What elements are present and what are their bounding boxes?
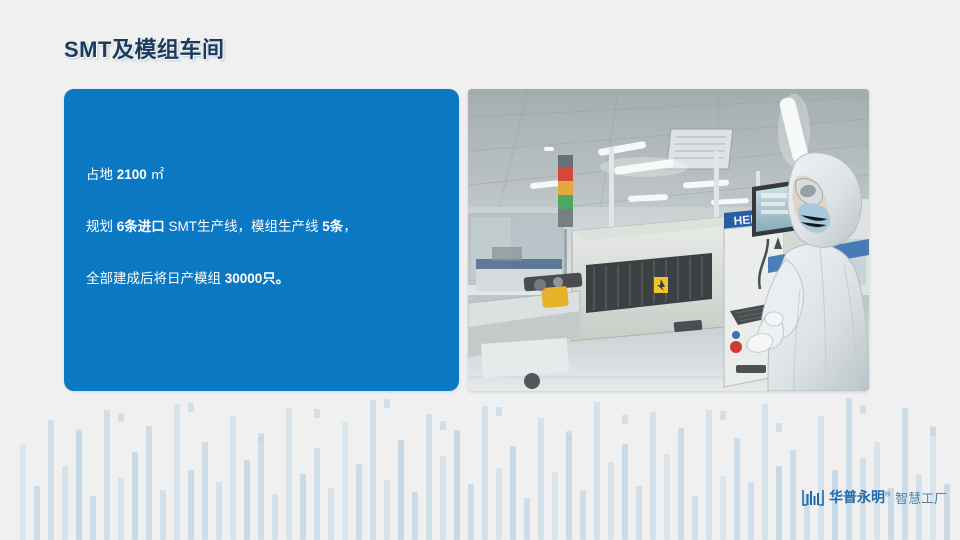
decorative-bar <box>314 448 320 540</box>
decorative-bar-tick <box>118 413 124 422</box>
decorative-bar <box>258 436 264 540</box>
decorative-bar <box>300 474 306 540</box>
info-card-text-block: 占地 2100 ㎡ 规划 6条进口 SMT生产线，模组生产线 5条， 全部建成后… <box>86 167 443 288</box>
decorative-bar <box>20 444 26 540</box>
decorative-bar <box>552 472 558 540</box>
decorative-bar <box>468 484 474 540</box>
decorative-bar <box>356 464 362 540</box>
decorative-bar <box>34 486 40 540</box>
decorative-bar <box>538 418 544 540</box>
decorative-bar-tick <box>720 411 726 420</box>
decorative-bar <box>734 438 740 540</box>
decorative-bar <box>930 426 936 540</box>
decorative-bar <box>398 440 404 540</box>
decorative-bar <box>720 476 726 540</box>
info-line-lines-plan: 规划 6条进口 SMT生产线，模组生产线 5条， <box>86 219 443 236</box>
decorative-bar <box>636 486 642 540</box>
decorative-bar <box>902 408 908 540</box>
decorative-bar <box>762 404 768 540</box>
decorative-bar-tick <box>860 405 866 414</box>
company-logo: 华普永明® 智慧工厂 <box>802 487 947 507</box>
decorative-bar <box>566 434 572 540</box>
logo-registered-mark: ® <box>885 491 890 498</box>
decorative-bar-tick <box>258 433 264 442</box>
decorative-bar <box>496 468 502 540</box>
slide-canvas: SMT及模组车间 占地 2100 ㎡ 规划 6条进口 SMT生产线，模组生产线 … <box>0 0 960 540</box>
decorative-bar <box>678 428 684 540</box>
decorative-bar <box>412 492 418 540</box>
decorative-bar <box>328 488 334 540</box>
decorative-bar <box>48 420 54 540</box>
decorative-bar-tick <box>384 399 390 408</box>
decorative-bar <box>244 460 250 540</box>
info-line-lines-plan-seg-3: 5条 <box>322 219 343 234</box>
decorative-bar <box>342 422 348 540</box>
logo-mark-icon <box>802 489 824 506</box>
info-line-lines-plan-seg-1: 6条进口 <box>117 219 165 234</box>
decorative-bar <box>482 406 488 540</box>
decorative-bar-tick <box>566 431 572 440</box>
decorative-bar <box>580 490 586 540</box>
decorative-bar-tick <box>776 423 782 432</box>
logo-sub-label: 智慧工厂 <box>895 488 947 507</box>
info-line-capacity-seg-0: 全部建成后将日产模组 <box>86 271 225 286</box>
decorative-bar <box>622 444 628 540</box>
decorative-bar <box>202 442 208 540</box>
decorative-bar <box>706 410 712 540</box>
logo-brand-text: 华普永明® <box>829 487 890 507</box>
decorative-bar <box>104 410 110 540</box>
decorative-bar-tick <box>930 427 936 436</box>
info-line-lines-plan-seg-2: SMT生产线，模组生产线 <box>165 219 323 234</box>
workshop-photo: HELLER <box>468 89 869 391</box>
decorative-bar <box>62 466 68 540</box>
decorative-bar <box>160 490 166 540</box>
decorative-bar <box>370 400 376 540</box>
decorative-bar-field <box>0 392 960 540</box>
decorative-bar-tick <box>76 429 82 438</box>
decorative-bar <box>426 414 432 540</box>
decorative-bar <box>846 398 852 540</box>
decorative-bar <box>384 480 390 540</box>
decorative-bar <box>146 426 152 540</box>
info-line-area-seg-2: ㎡ <box>147 167 164 182</box>
decorative-bar <box>594 402 600 540</box>
decorative-bar <box>524 498 530 540</box>
decorative-bar <box>216 482 222 540</box>
info-line-area-seg-0: 占地 <box>86 167 117 182</box>
decorative-bar <box>132 452 138 540</box>
info-line-area: 占地 2100 ㎡ <box>86 167 443 184</box>
decorative-bar <box>692 496 698 540</box>
decorative-bar <box>510 446 516 540</box>
decorative-bar-tick <box>440 421 446 430</box>
info-line-capacity: 全部建成后将日产模组 30000只。 <box>86 271 443 288</box>
decorative-bar <box>818 416 824 540</box>
decorative-bar-tick <box>188 403 194 412</box>
decorative-bar <box>90 496 96 540</box>
decorative-bar <box>916 474 922 540</box>
info-line-capacity-seg-1: 30000只。 <box>225 271 290 286</box>
decorative-bar <box>650 412 656 540</box>
decorative-bar <box>272 494 278 540</box>
decorative-bar <box>440 456 446 540</box>
page-title: SMT及模组车间 <box>64 32 224 64</box>
decorative-bar <box>230 416 236 540</box>
decorative-bar <box>286 408 292 540</box>
decorative-bar <box>454 430 460 540</box>
logo-brand-label: 华普永明 <box>829 489 885 505</box>
decorative-bar <box>76 432 82 540</box>
decorative-bar <box>608 462 614 540</box>
decorative-bar <box>118 478 124 540</box>
info-card: 占地 2100 ㎡ 规划 6条进口 SMT生产线，模组生产线 5条， 全部建成后… <box>64 89 459 391</box>
decorative-bar <box>188 470 194 540</box>
decorative-bar-tick <box>622 415 628 424</box>
decorative-bar <box>790 450 796 540</box>
decorative-bar-tick <box>314 409 320 418</box>
decorative-bar <box>748 482 754 540</box>
info-line-lines-plan-seg-4: ， <box>343 219 357 234</box>
decorative-bar <box>174 404 180 540</box>
workshop-photo-illustration: HELLER <box>468 89 869 391</box>
decorative-bar <box>664 454 670 540</box>
decorative-bar-tick <box>496 407 502 416</box>
info-line-lines-plan-seg-0: 规划 <box>86 219 117 234</box>
decorative-bar <box>776 466 782 540</box>
info-line-area-seg-1: 2100 <box>117 167 147 182</box>
